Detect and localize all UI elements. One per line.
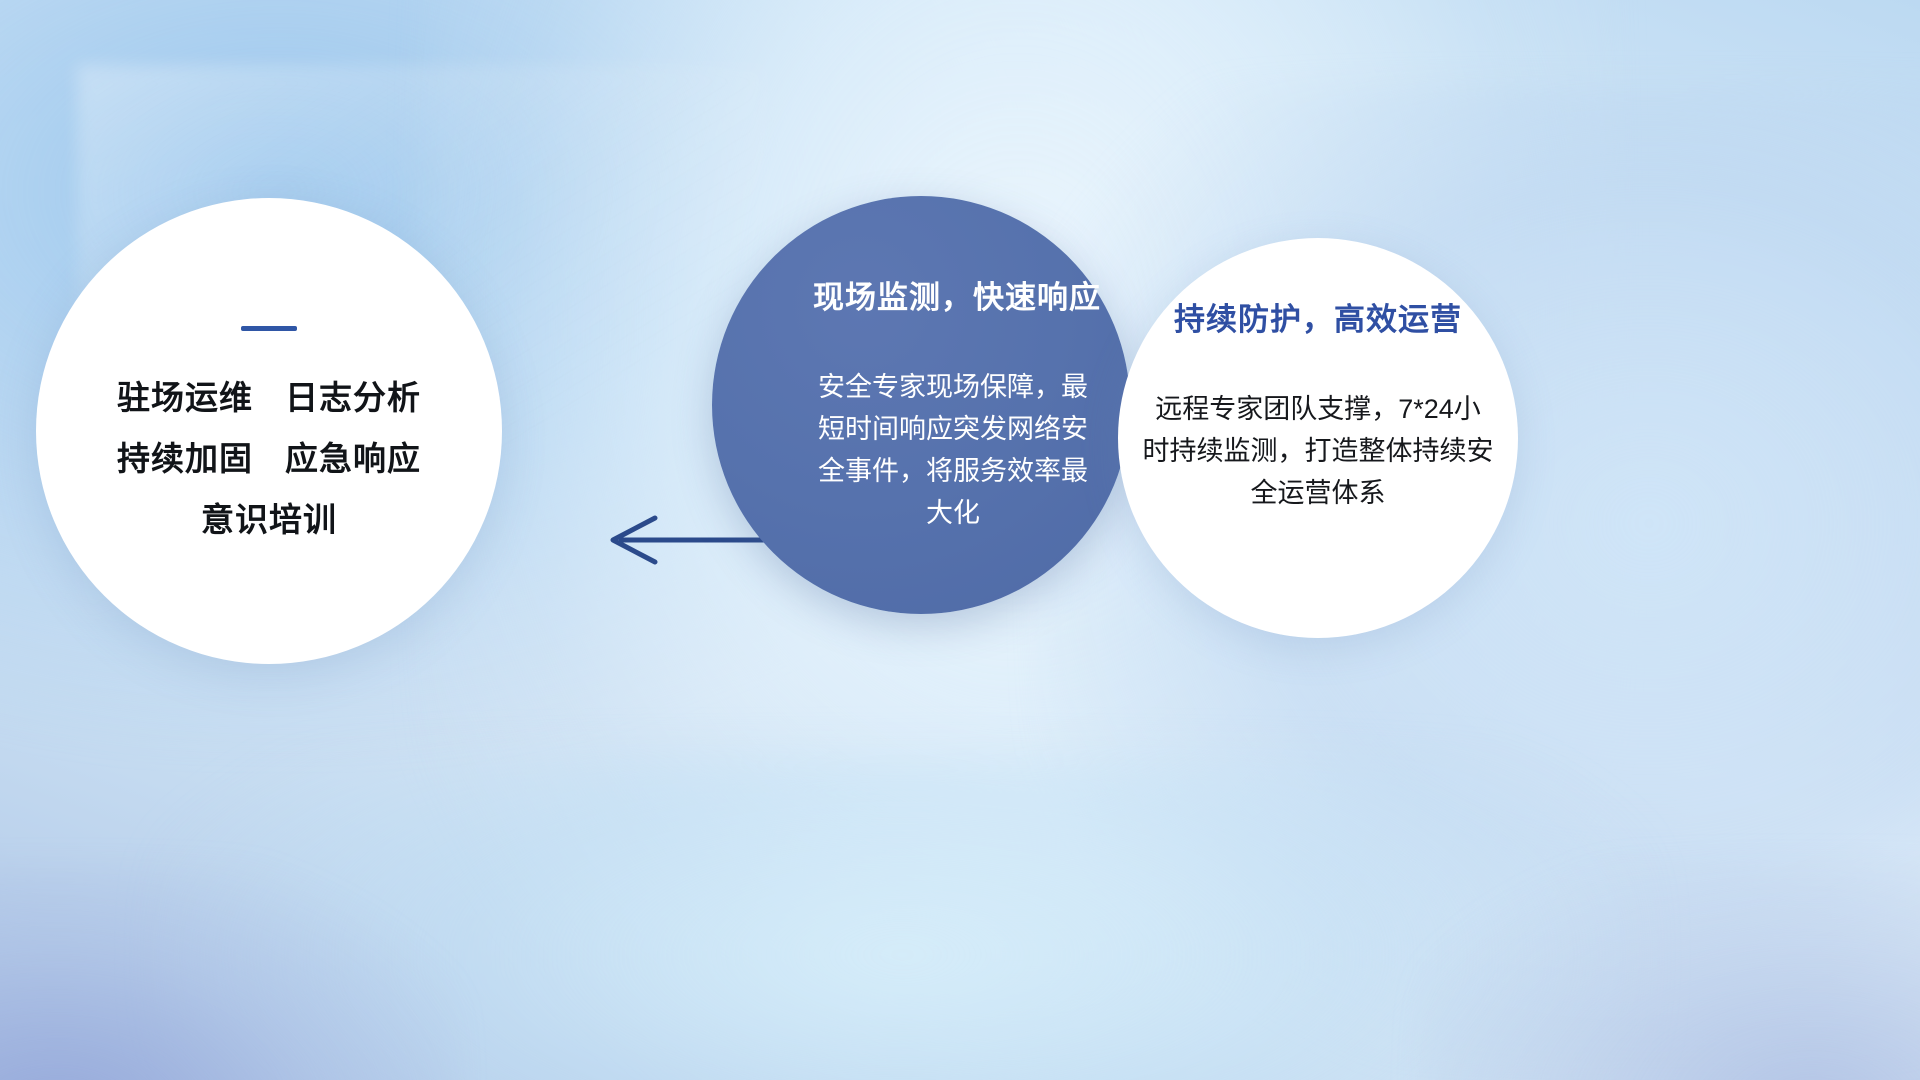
capability-item: 日志分析 xyxy=(285,381,421,414)
left-circle-content: 驻场运维 日志分析 持续加固 应急响应 意识培训 xyxy=(36,198,502,664)
capability-row: 意识培训 xyxy=(201,503,337,536)
middle-circle-title: 现场监测，快速响应 xyxy=(813,282,1101,313)
middle-circle-content: 现场监测，快速响应 安全专家现场保障，最短时间响应突发网络安全事件，将服务效率最… xyxy=(712,196,1130,614)
capability-list: 驻场运维 日志分析 持续加固 应急响应 意识培训 xyxy=(117,381,421,536)
middle-onsite-circle[interactable]: 现场监测，快速响应 安全专家现场保障，最短时间响应突发网络安全事件，将服务效率最… xyxy=(712,196,1130,614)
slide-canvas: 驻场运维 日志分析 持续加固 应急响应 意识培训 现场监测，快速响应 安全专家现… xyxy=(0,0,1920,1080)
divider-dash xyxy=(241,326,297,331)
middle-circle-body: 安全专家现场保障，最短时间响应突发网络安全事件，将服务效率最大化 xyxy=(810,367,1096,534)
right-circle-content: 持续防护，高效运营 远程专家团队支撑，7*24小时持续监测，打造整体持续安全运营… xyxy=(1118,238,1518,638)
right-circle-body: 远程专家团队支撑，7*24小时持续监测，打造整体持续安全运营体系 xyxy=(1142,389,1494,515)
capability-row: 持续加固 应急响应 xyxy=(117,442,421,475)
capability-row: 驻场运维 日志分析 xyxy=(117,381,421,414)
capability-item: 持续加固 xyxy=(117,442,253,475)
capability-item: 意识培训 xyxy=(201,503,337,536)
right-operations-circle[interactable]: 持续防护，高效运营 远程专家团队支撑，7*24小时持续监测，打造整体持续安全运营… xyxy=(1118,238,1518,638)
capability-item: 驻场运维 xyxy=(117,381,253,414)
background-corner-bottom-right xyxy=(1421,864,1920,1080)
capability-item: 应急响应 xyxy=(285,442,421,475)
right-circle-title: 持续防护，高效运营 xyxy=(1174,304,1462,335)
left-capability-circle[interactable]: 驻场运维 日志分析 持续加固 应急响应 意识培训 xyxy=(36,198,502,664)
background-corner-bottom-left xyxy=(0,864,461,1080)
